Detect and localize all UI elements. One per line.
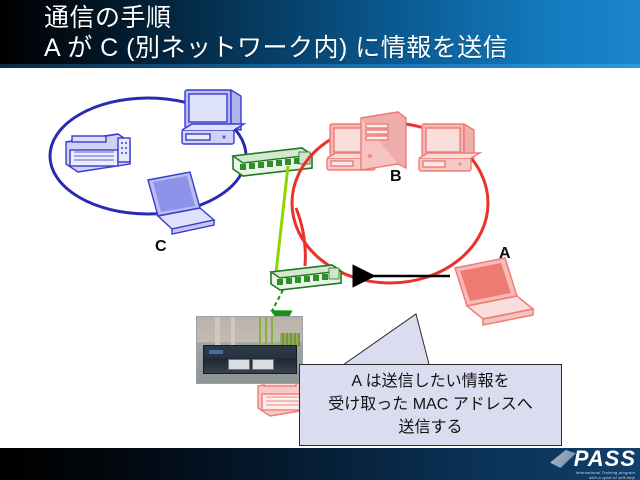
- router-chassis: [203, 345, 297, 374]
- router-photo: [196, 316, 303, 384]
- callout-text: A は送信したい情報を 受け取った MAC アドレスへ 送信する: [300, 370, 561, 439]
- switch-right-network: [271, 265, 341, 290]
- router-slot-1: [228, 359, 250, 370]
- label-node-a: A: [499, 245, 511, 263]
- uplink-green-line: [276, 166, 288, 273]
- logo-text: PASS: [574, 448, 636, 470]
- logo-tagline-2: with a spirit of self-help: [589, 475, 635, 480]
- slide-header: 通信の手順 A が C (別ネットワーク内) に情報を送信: [0, 0, 640, 68]
- pass-logo: PASS International Training program with…: [546, 447, 638, 480]
- device-printer-blue: [66, 134, 130, 172]
- logo-swoosh-icon: [550, 450, 576, 468]
- slide: 通信の手順 A が C (別ネットワーク内) に情報を送信: [0, 0, 640, 480]
- device-desktop-blue: [182, 90, 244, 144]
- switch-to-photo-arrow: [272, 290, 283, 311]
- label-node-b: B: [390, 168, 402, 186]
- label-node-c: C: [155, 238, 167, 256]
- page-title: 通信の手順 A が C (別ネットワーク内) に情報を送信: [44, 3, 624, 63]
- callout-box: A は送信したい情報を 受け取った MAC アドレスへ 送信する: [299, 364, 562, 446]
- device-desktop-red-2: [419, 124, 480, 171]
- device-laptop-red-a: [455, 258, 533, 325]
- slide-footer: [0, 448, 640, 480]
- device-tower-red-b: [361, 112, 406, 170]
- router-led: [209, 350, 223, 354]
- diagram-canvas: C B A A は送信したい情報を 受け取った MAC アドレスへ 送信する: [0, 68, 640, 448]
- router-slot-2: [252, 359, 274, 370]
